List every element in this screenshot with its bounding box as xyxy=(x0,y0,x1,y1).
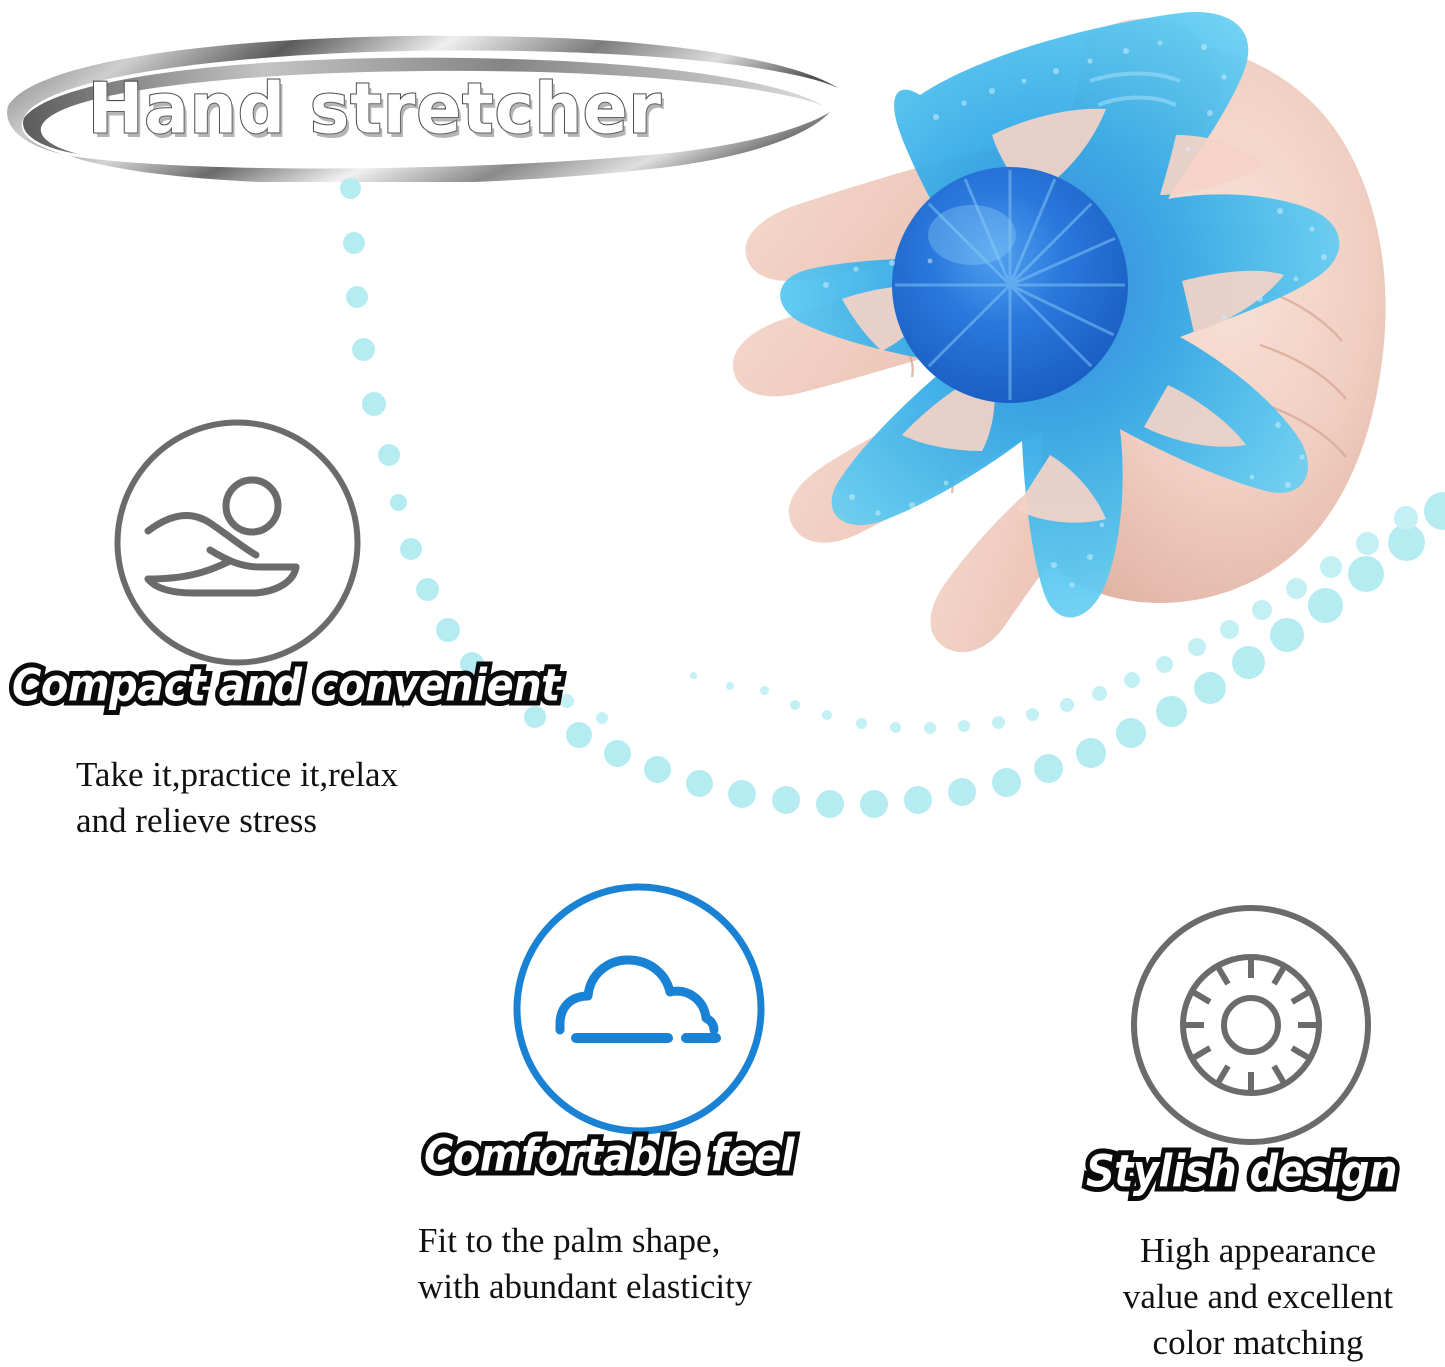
gear-wheel-icon xyxy=(1126,900,1376,1150)
feature-comfortable-body: Fit to the palm shape, with abundant ela… xyxy=(418,1218,868,1310)
cloud-icon xyxy=(508,878,770,1140)
hand-holding-ball-icon xyxy=(110,415,365,670)
page-title: Hand stretcher xyxy=(88,68,662,150)
page-title-group: Hand stretcher xyxy=(0,22,860,182)
feature-compact-body: Take it,practice it,relax and relieve st… xyxy=(76,752,506,844)
feature-stylish-heading: Stylish design xyxy=(1086,1146,1397,1198)
feature-stylish-body: High appearance value and excellent colo… xyxy=(1078,1228,1438,1367)
marketing-page: Hand stretcher xyxy=(0,0,1445,1358)
feature-compact-heading: Compact and convenient xyxy=(12,660,560,712)
feature-comfortable-heading: Comfortable feel xyxy=(424,1130,794,1182)
